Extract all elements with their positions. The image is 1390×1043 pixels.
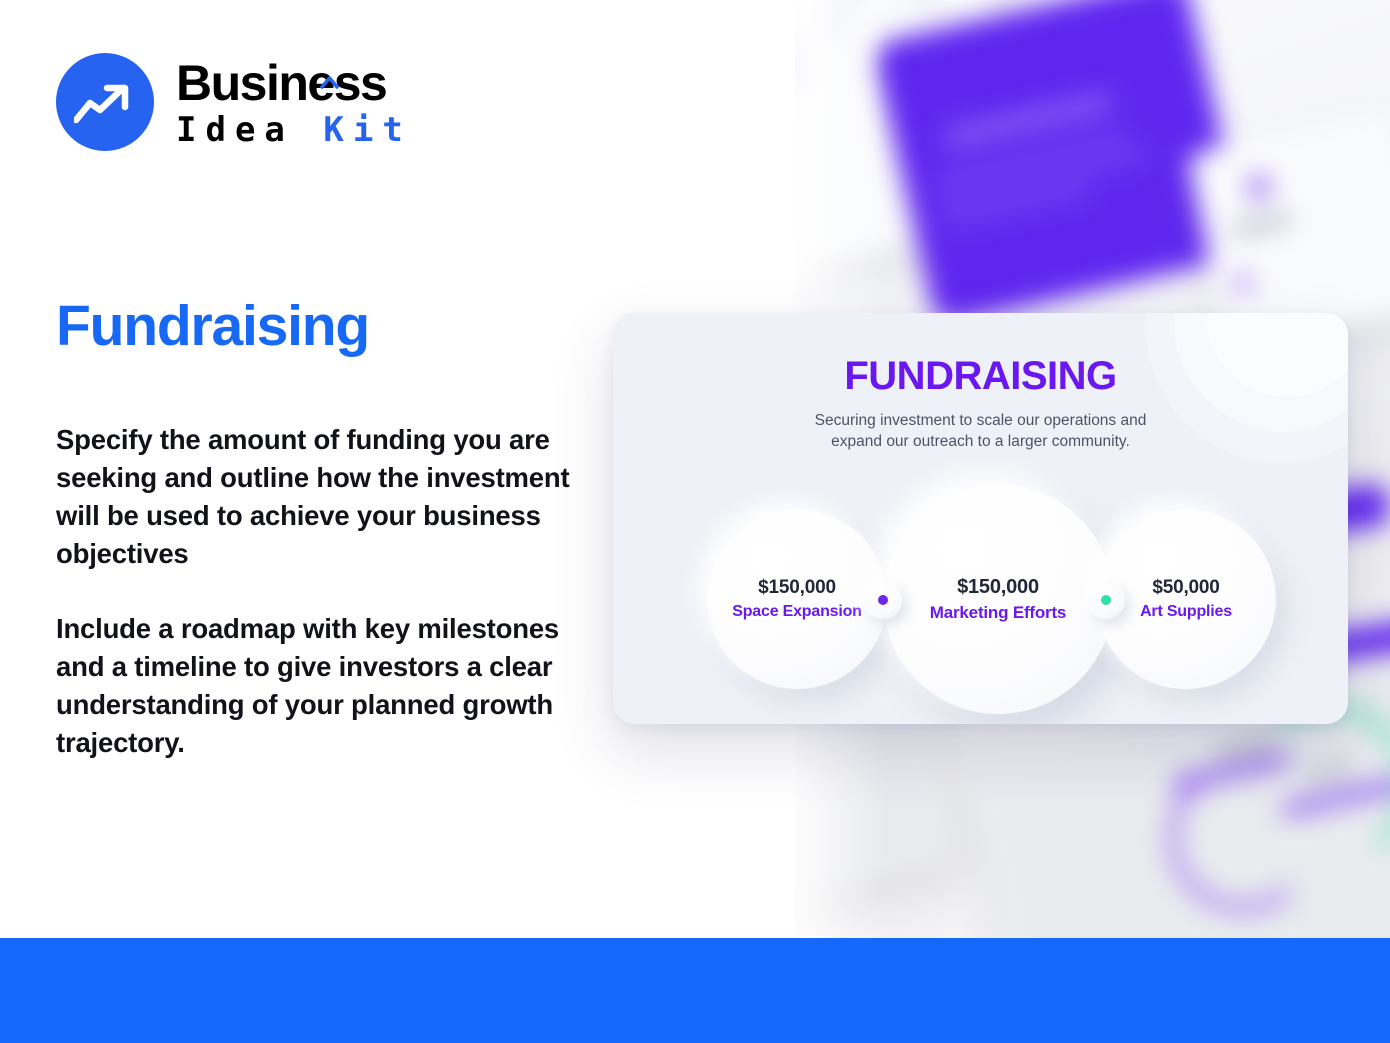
funding-item-marketing-efforts[interactable]: $150,000 Marketing Efforts — [883, 484, 1113, 714]
funding-allocation-group: $150,000 Space Expansion $150,000 Market… — [613, 499, 1348, 699]
brand-name-kit: Kit — [323, 110, 411, 150]
card-subtitle-line1: Securing investment to scale our operati… — [613, 411, 1348, 432]
funding-amount: $150,000 — [758, 577, 836, 599]
funding-label: Art Supplies — [1140, 603, 1232, 621]
brand-wordmark: Business Idea Kit — [176, 54, 412, 150]
connector-node-right — [1087, 581, 1125, 619]
body-paragraph-2: Include a roadmap with key milestones an… — [56, 610, 576, 762]
connector-dot-green — [1101, 595, 1111, 605]
funding-amount: $150,000 — [957, 576, 1039, 599]
funding-amount: $50,000 — [1152, 577, 1219, 599]
brand-name-idea: Idea — [176, 110, 294, 150]
bg-purple-dot — [1248, 176, 1270, 198]
card-subtitle-line2: expand our outreach to a larger communit… — [613, 432, 1348, 453]
chevron-up-accent-icon — [320, 47, 339, 61]
card-title: FUNDRAISING — [613, 354, 1348, 399]
funding-label: Marketing Efforts — [930, 603, 1066, 623]
funding-item-space-expansion[interactable]: $150,000 Space Expansion — [707, 509, 887, 689]
slide-root: Business Idea Kit Fundraising Specify th… — [0, 0, 1390, 1043]
connector-dot-purple — [878, 595, 888, 605]
brand-name-line2: Idea Kit — [176, 111, 412, 150]
trending-up-arrow-icon — [56, 53, 154, 151]
bg-purple-dot — [1235, 275, 1251, 291]
funding-label: Space Expansion — [732, 603, 862, 621]
page-title: Fundraising — [56, 297, 369, 357]
body-paragraph-1: Specify the amount of funding you are se… — [56, 421, 576, 573]
footer-bar — [0, 938, 1390, 1043]
fundraising-card: FUNDRAISING Securing investment to scale… — [613, 313, 1348, 724]
connector-node-left — [864, 581, 902, 619]
brand-logo[interactable]: Business Idea Kit — [56, 53, 412, 151]
brand-name-line1: Business — [176, 58, 412, 109]
bg-text-block — [1230, 212, 1293, 238]
card-subtitle: Securing investment to scale our operati… — [613, 411, 1348, 453]
brand-name-line1-text: Business — [176, 55, 386, 111]
